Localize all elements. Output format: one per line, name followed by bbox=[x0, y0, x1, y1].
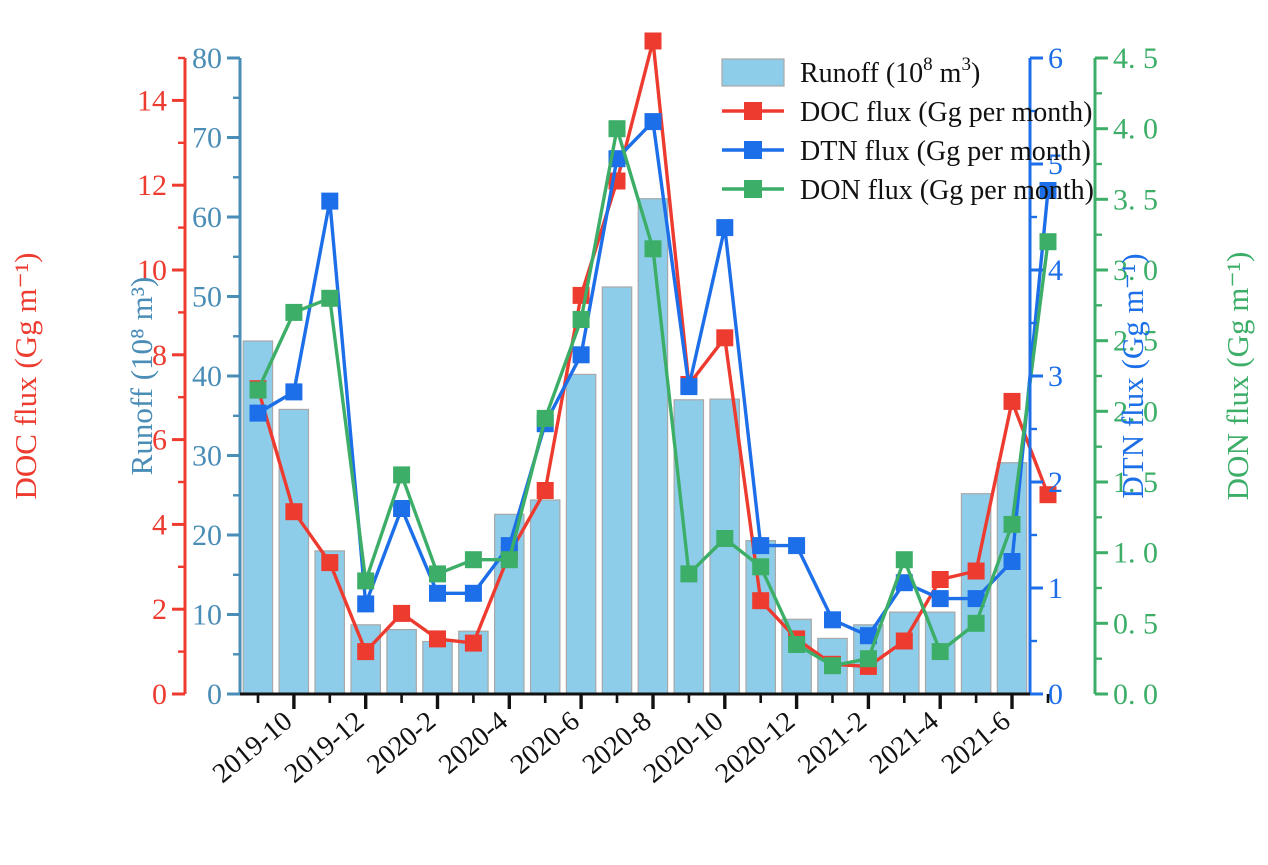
bar-2019-10 bbox=[279, 409, 308, 694]
xticklabel: 2020-12 bbox=[710, 706, 801, 790]
ticklabel-dtn: 1 bbox=[1048, 572, 1063, 605]
xticklabel: 2021-4 bbox=[864, 706, 945, 781]
marker-don-2019-12 bbox=[357, 572, 374, 589]
bar-2020-7 bbox=[602, 287, 631, 694]
marker-don-2021-1 bbox=[824, 657, 841, 674]
marker-dtn-2020-3 bbox=[465, 585, 482, 602]
legend-label: DON flux (Gg per month) bbox=[800, 175, 1094, 206]
axis-title-dtn: DTN flux (Gg m⁻¹) bbox=[1115, 253, 1150, 498]
marker-doc-2020-2 bbox=[429, 630, 446, 647]
ticklabel-don: 4. 0 bbox=[1113, 113, 1158, 146]
marker-don-2021-3 bbox=[896, 551, 913, 568]
xticklabel: 2020-4 bbox=[433, 706, 514, 781]
marker-don-2019-11 bbox=[321, 290, 338, 307]
marker-don-2020-9 bbox=[680, 565, 697, 582]
marker-don-2021-5 bbox=[968, 615, 985, 632]
marker-dtn-2020-2 bbox=[429, 585, 446, 602]
marker-don-2021-4 bbox=[932, 643, 949, 660]
marker-doc-2020-11 bbox=[752, 592, 769, 609]
marker-doc-2020-10 bbox=[716, 329, 733, 346]
marker-dtn-2021-1 bbox=[824, 611, 841, 628]
marker-dtn-2020-10 bbox=[716, 219, 733, 236]
marker-doc-2021-4 bbox=[932, 571, 949, 588]
ticklabel-doc: 12 bbox=[137, 169, 167, 202]
marker-doc-2021-3 bbox=[896, 633, 913, 650]
ticklabel-runoff: 80 bbox=[192, 42, 222, 75]
bar-2019-11 bbox=[315, 551, 344, 694]
legend-label: DOC flux (Gg per month) bbox=[800, 97, 1092, 128]
marker-dtn-2019-12 bbox=[357, 595, 374, 612]
marker-don-2020-4 bbox=[501, 551, 518, 568]
marker-don-2020-12 bbox=[788, 636, 805, 653]
ticklabel-doc: 14 bbox=[137, 84, 167, 117]
bar-2020-2 bbox=[423, 642, 452, 695]
marker-dtn-2021-6 bbox=[1004, 553, 1021, 570]
axis-title-runoff: Runoff (10⁸ m³) bbox=[124, 277, 159, 476]
marker-doc-2020-5 bbox=[537, 482, 554, 499]
marker-doc-2019-11 bbox=[321, 554, 338, 571]
marker-don-2020-7 bbox=[609, 120, 626, 137]
marker-dtn-2019-9 bbox=[250, 405, 267, 422]
ticklabel-don: 0. 0 bbox=[1113, 678, 1158, 711]
bar-2020-8 bbox=[638, 199, 667, 694]
bar-2020-1 bbox=[387, 630, 416, 694]
xticklabel: 2019-10 bbox=[207, 706, 298, 790]
marker-dtn-2020-1 bbox=[393, 500, 410, 517]
xticklabel: 2020-2 bbox=[361, 706, 442, 781]
marker-don-2020-1 bbox=[393, 466, 410, 483]
ticklabel-runoff: 50 bbox=[192, 281, 222, 314]
marker-doc-2020-1 bbox=[393, 605, 410, 622]
marker-doc-2020-8 bbox=[645, 33, 662, 50]
marker-doc-2019-12 bbox=[357, 643, 374, 660]
marker-don-2019-9 bbox=[250, 382, 267, 399]
legend-swatch-runoff bbox=[722, 59, 784, 86]
marker-don-2021-7 bbox=[1040, 233, 1057, 250]
axis-title-don: DON flux (Gg m⁻¹) bbox=[1220, 252, 1255, 501]
ticklabel-runoff: 40 bbox=[192, 360, 222, 393]
ticklabel-runoff: 70 bbox=[192, 122, 222, 155]
marker-dtn-2019-11 bbox=[321, 193, 338, 210]
ticklabel-runoff: 20 bbox=[192, 519, 222, 552]
bar-2020-5 bbox=[531, 500, 560, 694]
ticklabel-don: 1. 0 bbox=[1113, 537, 1158, 570]
marker-don-2020-6 bbox=[573, 311, 590, 328]
bar-2020-6 bbox=[566, 374, 595, 694]
xticklabel: 2021-6 bbox=[936, 706, 1017, 781]
ticklabel-dtn: 3 bbox=[1048, 360, 1063, 393]
xticklabel: 2020-6 bbox=[505, 706, 586, 781]
bar-2021-6 bbox=[997, 463, 1026, 694]
ticklabel-doc: 2 bbox=[152, 593, 167, 626]
marker-don-2020-5 bbox=[537, 410, 554, 427]
marker-doc-2021-6 bbox=[1004, 393, 1021, 410]
ticklabel-runoff: 60 bbox=[192, 201, 222, 234]
marker-don-2020-11 bbox=[752, 558, 769, 575]
xticklabel: 2020-10 bbox=[638, 706, 729, 790]
ticklabel-runoff: 0 bbox=[207, 678, 222, 711]
chart-root: 024681012140102030405060708001234560. 00… bbox=[0, 0, 1268, 865]
marker-doc-2021-5 bbox=[968, 563, 985, 580]
marker-dtn-2020-9 bbox=[680, 378, 697, 395]
runoff-bars bbox=[243, 199, 1026, 694]
ticklabel-doc: 0 bbox=[152, 678, 167, 711]
axis-runoff: 01020304050607080 bbox=[192, 42, 240, 711]
ticklabel-runoff: 10 bbox=[192, 599, 222, 632]
ticklabel-dtn: 6 bbox=[1048, 42, 1063, 75]
legend-label: DTN flux (Gg per month) bbox=[800, 136, 1091, 167]
legend: Runoff (108 m3)DOC flux (Gg per month)DT… bbox=[722, 54, 1094, 206]
ticklabel-dtn: 4 bbox=[1048, 254, 1063, 287]
marker-dtn-2020-6 bbox=[573, 346, 590, 363]
legend-marker bbox=[744, 102, 762, 120]
axis-x: 2019-102019-122020-22020-42020-62020-820… bbox=[207, 694, 1048, 789]
axis-title-doc: DOC flux (Gg m⁻¹) bbox=[8, 253, 43, 500]
marker-don-2020-2 bbox=[429, 565, 446, 582]
marker-dtn-2020-12 bbox=[788, 537, 805, 554]
ticklabel-dtn: 0 bbox=[1048, 678, 1063, 711]
marker-don-2020-8 bbox=[645, 240, 662, 257]
ticklabel-runoff: 30 bbox=[192, 440, 222, 473]
marker-don-2021-2 bbox=[860, 650, 877, 667]
ticklabel-dtn: 2 bbox=[1048, 466, 1063, 499]
ticklabel-doc: 4 bbox=[152, 508, 167, 541]
legend-marker bbox=[744, 141, 762, 159]
marker-don-2020-10 bbox=[716, 530, 733, 547]
bar-2020-9 bbox=[674, 400, 703, 694]
marker-doc-2019-10 bbox=[285, 503, 302, 520]
marker-don-2020-3 bbox=[465, 551, 482, 568]
marker-don-2021-6 bbox=[1004, 516, 1021, 533]
ticklabel-don: 0. 5 bbox=[1113, 607, 1158, 640]
xticklabel: 2021-2 bbox=[792, 706, 873, 781]
marker-doc-2020-3 bbox=[465, 635, 482, 652]
xticklabel: 2019-12 bbox=[279, 706, 370, 790]
marker-dtn-2020-11 bbox=[752, 537, 769, 554]
ticklabel-don: 4. 5 bbox=[1113, 42, 1158, 75]
marker-dtn-2021-4 bbox=[932, 590, 949, 607]
multi-axis-combo-chart: 024681012140102030405060708001234560. 00… bbox=[0, 0, 1268, 865]
legend-marker bbox=[744, 180, 762, 198]
marker-don-2019-10 bbox=[285, 304, 302, 321]
marker-dtn-2020-8 bbox=[645, 113, 662, 130]
marker-dtn-2019-10 bbox=[285, 383, 302, 400]
legend-label: Runoff (108 m3) bbox=[800, 54, 980, 89]
ticklabel-don: 3. 5 bbox=[1113, 183, 1158, 216]
